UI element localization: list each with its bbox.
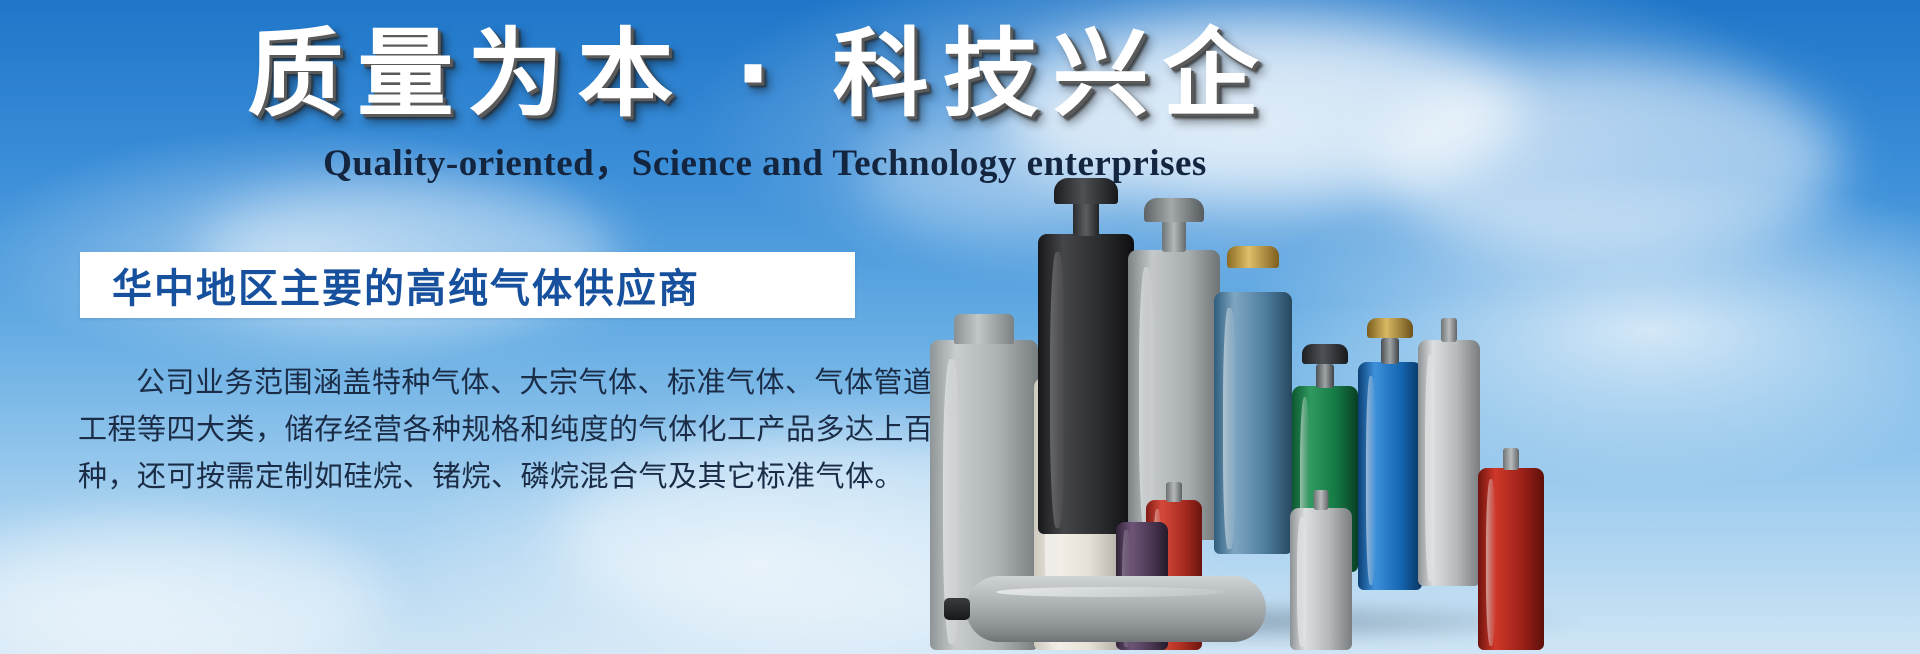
cylinder-neck <box>1243 266 1263 294</box>
cylinder-neck <box>1314 490 1329 510</box>
cylinder-neck <box>1441 318 1457 342</box>
cylinder-highlight <box>1366 376 1376 586</box>
cylinder-valve-guard <box>1144 198 1204 222</box>
cylinder-silver-tall <box>1418 340 1480 586</box>
cylinder-highlight <box>1139 267 1154 534</box>
cylinder-blue-bright <box>1358 362 1422 590</box>
cylinder-neck <box>1381 338 1399 364</box>
cylinder-highlight <box>1486 479 1497 646</box>
cylinder-lying-tank <box>966 576 1266 642</box>
cylinder-black <box>1038 234 1134 534</box>
paragraph-line: 种，还可按需定制如硅烷、锗烷、磷烷混合气及其它标准气体。 <box>78 454 868 501</box>
slogan-text: 华中地区主要的高纯气体供应商 <box>80 256 700 314</box>
cylinder-valve-guard <box>1302 344 1348 364</box>
cylinder-cap <box>954 314 1014 344</box>
slogan-box: 华中地区主要的高纯气体供应商 <box>80 252 855 318</box>
promotional-banner: 质量为本 · 科技兴企 Quality-oriented，Science and… <box>0 0 1920 654</box>
cylinder-blue-steel <box>1214 292 1292 554</box>
cylinder-neck <box>1162 220 1186 252</box>
cylinder-neck <box>1316 364 1334 388</box>
cloud-decoration <box>0 520 380 654</box>
cylinder-red-tall <box>1478 468 1544 650</box>
paragraph-line: 公司业务范围涵盖特种气体、大宗气体、标准气体、气体管道 <box>78 360 868 407</box>
banner-headline: 质量为本 · 科技兴企 <box>0 22 1520 128</box>
cylinder-highlight <box>1050 252 1065 528</box>
description-paragraph: 公司业务范围涵盖特种气体、大宗气体、标准气体、气体管道 工程等四大类，储存经营各… <box>78 360 868 501</box>
paragraph-line: 工程等四大类，储存经营各种规格和纯度的气体化工产品多达上百 <box>78 407 868 454</box>
tank-highlight <box>996 587 1224 598</box>
cylinder-silver-short <box>1290 508 1352 650</box>
gas-cylinders-photo <box>930 150 1570 650</box>
cylinder-neck <box>1503 448 1519 470</box>
cylinder-highlight <box>1297 517 1307 648</box>
cylinder-valve-guard <box>1054 178 1118 204</box>
cylinder-neck <box>1166 482 1182 502</box>
cylinder-valve-guard <box>1367 318 1413 338</box>
cylinder-brass-valve <box>1227 246 1279 268</box>
cylinder-neck <box>1073 200 1099 236</box>
cylinder-highlight <box>1425 355 1435 581</box>
tank-valve <box>944 598 970 620</box>
cylinder-highlight <box>1223 308 1235 549</box>
